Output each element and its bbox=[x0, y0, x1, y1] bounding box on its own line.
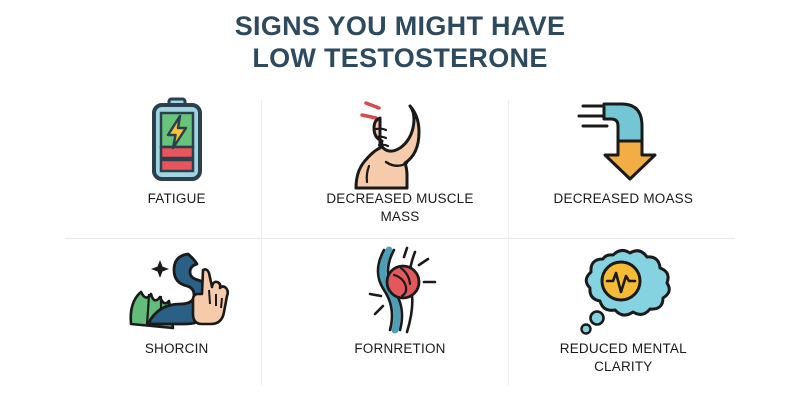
page-title: SIGNS YOU MIGHT HAVE LOW TESTOSTERONE bbox=[0, 10, 800, 74]
curved-down-arrow-icon bbox=[577, 94, 669, 186]
symptom-label: FATIGUE bbox=[148, 190, 206, 208]
symptom-label: FORNRETION bbox=[354, 340, 445, 358]
infographic-canvas: SIGNS YOU MIGHT HAVE LOW TESTOSTERONE FA… bbox=[0, 0, 800, 400]
blocked-blood-vessel-icon bbox=[357, 244, 443, 336]
symptom-cell-decreased-moass: DECREASED MOASS bbox=[512, 88, 735, 238]
thought-bubble-pulse-icon bbox=[575, 244, 671, 336]
symptom-cell-fatigue: FATIGUE bbox=[65, 88, 288, 238]
symptom-grid: FATIGUE DECREA bbox=[65, 88, 735, 388]
title-line-1: SIGNS YOU MIGHT HAVE bbox=[0, 10, 800, 42]
symptom-cell-fornretion: FORNRETION bbox=[288, 238, 511, 388]
symptom-cell-shorcin: SHORCIN bbox=[65, 238, 288, 388]
symptom-label: SHORCIN bbox=[145, 340, 209, 358]
flexed-bicep-icon bbox=[352, 94, 448, 186]
symptom-cell-reduced-mental-clarity: REDUCED MENTAL CLARITY bbox=[512, 238, 735, 388]
symptom-label: DECREASED MUSCLE MASS bbox=[310, 190, 490, 226]
hair-loss-icon bbox=[125, 244, 229, 336]
symptom-label: REDUCED MENTAL CLARITY bbox=[533, 340, 713, 376]
symptom-label: DECREASED MOASS bbox=[554, 190, 694, 208]
title-line-2: LOW TESTOSTERONE bbox=[0, 42, 800, 74]
symptom-cell-decreased-muscle-mass: DECREASED MUSCLE MASS bbox=[288, 88, 511, 238]
battery-low-icon bbox=[147, 94, 207, 186]
